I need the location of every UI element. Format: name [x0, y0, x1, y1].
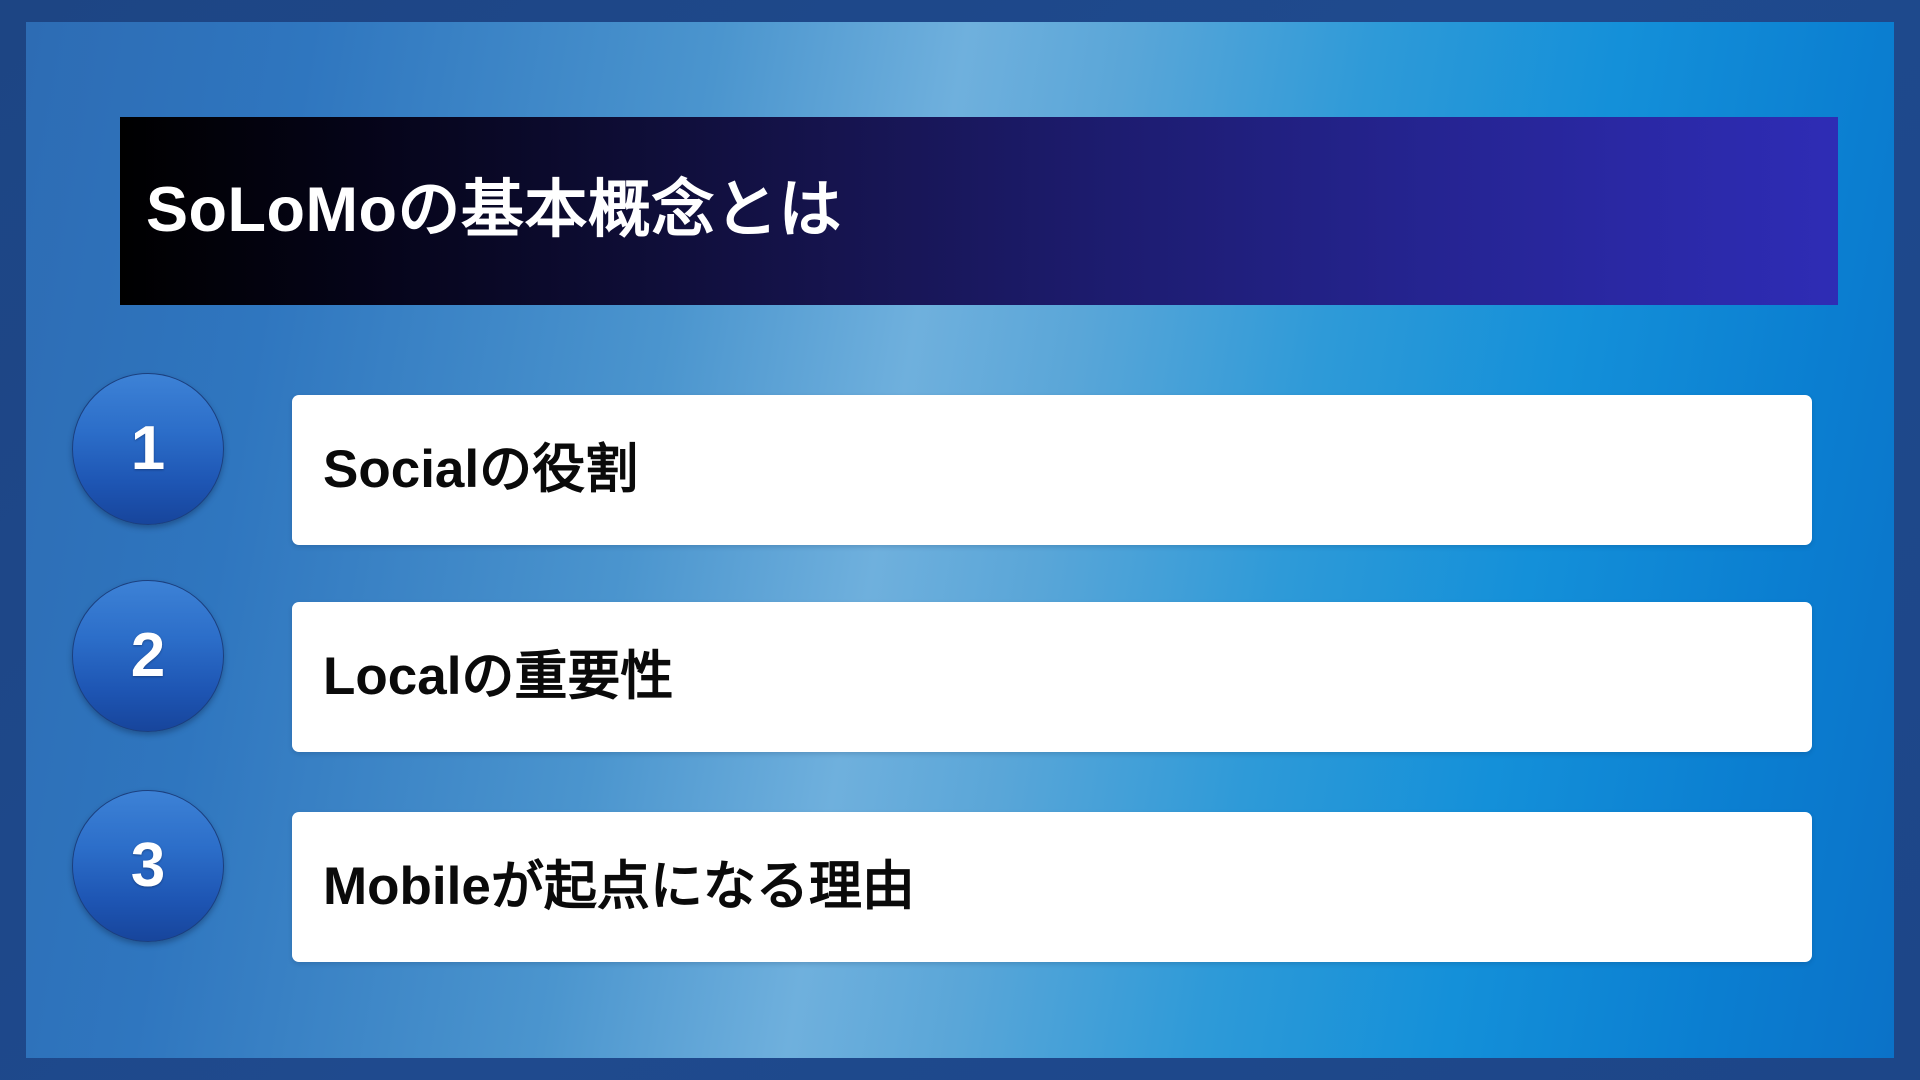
- list-item-panel-2[interactable]: Localの重要性: [292, 602, 1812, 752]
- list-item-label: Mobileが起点になる理由: [292, 857, 915, 918]
- list-item[interactable]: 3 Mobileが起点になる理由: [26, 790, 1894, 940]
- step-badge-1: 1: [72, 373, 224, 525]
- list-item-panel-1[interactable]: Socialの役割: [292, 395, 1812, 545]
- slide-title-bar: SoLoMoの基本概念とは: [120, 117, 1838, 305]
- step-badge-2: 2: [72, 580, 224, 732]
- list-item-label: Localの重要性: [292, 647, 673, 708]
- step-number-label: 2: [131, 625, 165, 687]
- slide-root: SoLoMoの基本概念とは 1 Socialの役割 2 Localの重要性 3 …: [0, 0, 1920, 1080]
- list-item-label: Socialの役割: [292, 440, 638, 501]
- list-item-panel-3[interactable]: Mobileが起点になる理由: [292, 812, 1812, 962]
- list-item[interactable]: 2 Localの重要性: [26, 580, 1894, 730]
- step-number-label: 1: [131, 418, 165, 480]
- slide-inner-card: SoLoMoの基本概念とは 1 Socialの役割 2 Localの重要性 3 …: [26, 22, 1894, 1058]
- page-title: SoLoMoの基本概念とは: [120, 176, 842, 245]
- step-badge-3: 3: [72, 790, 224, 942]
- list-item[interactable]: 1 Socialの役割: [26, 373, 1894, 523]
- step-number-label: 3: [131, 835, 165, 897]
